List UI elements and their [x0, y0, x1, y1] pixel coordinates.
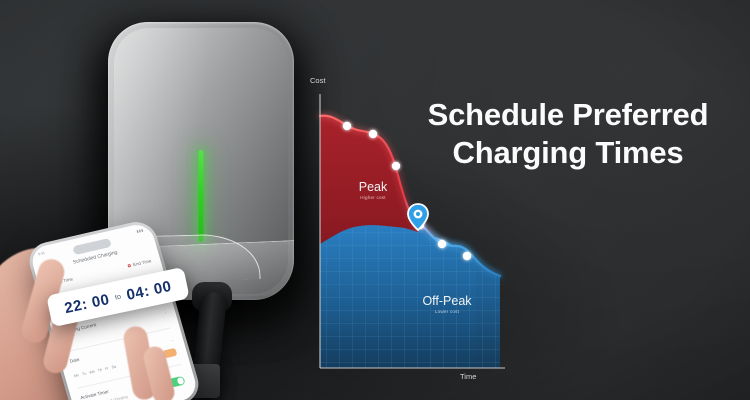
- page-title: Schedule Preferred Charging Times: [398, 96, 738, 173]
- day-chip[interactable]: Mo: [74, 373, 80, 378]
- row-label-activate: Activate Timer: [80, 389, 110, 400]
- headline-line-1: Schedule Preferred: [398, 96, 738, 134]
- phone-status-icons: ▮▮▮: [136, 228, 144, 233]
- peak-marker-2: [369, 130, 377, 138]
- day-chip[interactable]: Th: [97, 368, 102, 373]
- peak-subtitle: Higher cost: [333, 195, 413, 200]
- peak-marker-1: [343, 122, 351, 130]
- chevron-right-icon-current[interactable]: ›: [164, 310, 167, 315]
- end-time-value: 04: 00: [125, 277, 173, 303]
- end-time-label: End Time: [132, 258, 151, 267]
- day-selector[interactable]: Mo Tu We Th Fr Sa: [74, 365, 117, 379]
- promo-banner: Cost Time Peak Higher cost Off-Peak Lowe…: [0, 0, 750, 400]
- x-axis-label: Time: [460, 372, 476, 381]
- day-chip[interactable]: Tu: [82, 372, 87, 377]
- peak-annotation: Peak Higher cost: [333, 180, 413, 200]
- phone-status-time: 9:41: [38, 251, 46, 256]
- headline-line-2: Charging Times: [398, 134, 738, 172]
- end-time-marker-icon: [127, 264, 131, 268]
- y-axis-label: Cost: [310, 76, 325, 85]
- end-time-tab[interactable]: End Time: [127, 258, 152, 268]
- offpeak-marker-2: [438, 240, 446, 248]
- offpeak-title: Off-Peak: [400, 294, 494, 308]
- start-time-value: 22: 00: [63, 291, 111, 317]
- day-chip[interactable]: Fr: [105, 366, 110, 371]
- day-chip[interactable]: Sa: [111, 365, 117, 370]
- offpeak-annotation: Off-Peak Lower cost: [400, 294, 494, 314]
- offpeak-marker-3: [463, 252, 471, 260]
- chevron-down-icon-date[interactable]: ⌄: [170, 337, 175, 343]
- time-separator: to: [114, 293, 121, 301]
- peak-title: Peak: [333, 180, 413, 194]
- row-label-date: Date: [69, 357, 80, 364]
- day-chip[interactable]: We: [89, 370, 95, 375]
- offpeak-subtitle: Lower cost: [400, 309, 494, 314]
